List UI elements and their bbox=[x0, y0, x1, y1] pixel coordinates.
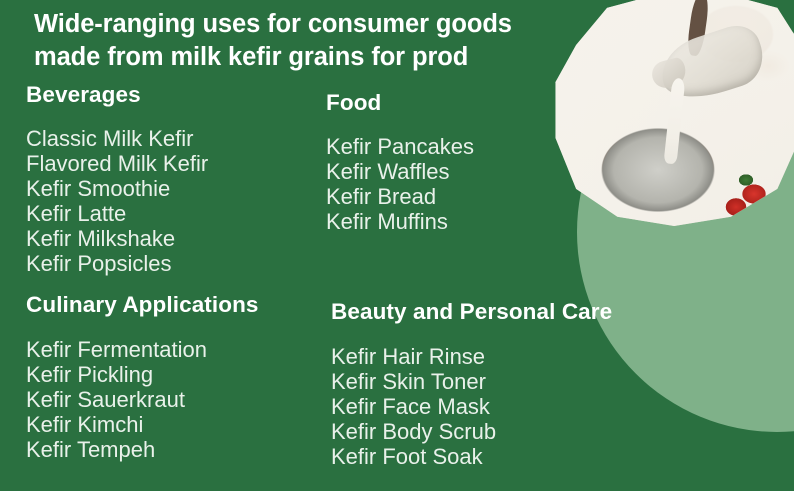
section-culinary-applications: Culinary Applications Kefir Fermentation… bbox=[26, 292, 259, 462]
kefir-pouring-photo bbox=[540, 0, 794, 226]
list-item: Kefir Tempeh bbox=[26, 437, 259, 462]
list-item: Kefir Pancakes bbox=[326, 134, 474, 159]
section-food: Food Kefir Pancakes Kefir Waffles Kefir … bbox=[326, 90, 474, 234]
list-item: Kefir Fermentation bbox=[26, 337, 259, 362]
infographic-poster: Wide-ranging uses for consumer goods mad… bbox=[0, 0, 794, 491]
milk-stream-shape bbox=[664, 78, 686, 165]
section-list-beauty-and-personal-care: Kefir Hair Rinse Kefir Skin Toner Kefir … bbox=[331, 344, 612, 469]
list-item: Kefir Skin Toner bbox=[331, 369, 612, 394]
list-item: Kefir Popsicles bbox=[26, 251, 208, 276]
list-item: Kefir Sauerkraut bbox=[26, 387, 259, 412]
section-heading-beverages: Beverages bbox=[26, 82, 208, 108]
list-item: Kefir Waffles bbox=[326, 159, 474, 184]
page-title: Wide-ranging uses for consumer goods mad… bbox=[34, 8, 554, 75]
section-list-culinary-applications: Kefir Fermentation Kefir Pickling Kefir … bbox=[26, 337, 259, 462]
section-heading-food: Food bbox=[326, 90, 474, 116]
list-item: Kefir Face Mask bbox=[331, 394, 612, 419]
list-item: Kefir Foot Soak bbox=[331, 444, 612, 469]
list-item: Kefir Body Scrub bbox=[331, 419, 612, 444]
list-item: Kefir Smoothie bbox=[26, 176, 208, 201]
list-item: Kefir Latte bbox=[26, 201, 208, 226]
list-item: Classic Milk Kefir bbox=[26, 126, 208, 151]
list-item: Kefir Muffins bbox=[326, 209, 474, 234]
section-list-beverages: Classic Milk Kefir Flavored Milk Kefir K… bbox=[26, 126, 208, 276]
list-item: Kefir Kimchi bbox=[26, 412, 259, 437]
section-heading-beauty-and-personal-care: Beauty and Personal Care bbox=[331, 299, 612, 325]
list-item: Kefir Milkshake bbox=[26, 226, 208, 251]
section-beverages: Beverages Classic Milk Kefir Flavored Mi… bbox=[26, 82, 208, 276]
section-list-food: Kefir Pancakes Kefir Waffles Kefir Bread… bbox=[326, 134, 474, 234]
section-heading-culinary-applications: Culinary Applications bbox=[26, 292, 259, 318]
list-item: Kefir Hair Rinse bbox=[331, 344, 612, 369]
list-item: Kefir Bread bbox=[326, 184, 474, 209]
section-beauty-and-personal-care: Beauty and Personal Care Kefir Hair Rins… bbox=[331, 299, 612, 469]
list-item: Kefir Pickling bbox=[26, 362, 259, 387]
list-item: Flavored Milk Kefir bbox=[26, 151, 208, 176]
photo-image bbox=[540, 0, 794, 226]
